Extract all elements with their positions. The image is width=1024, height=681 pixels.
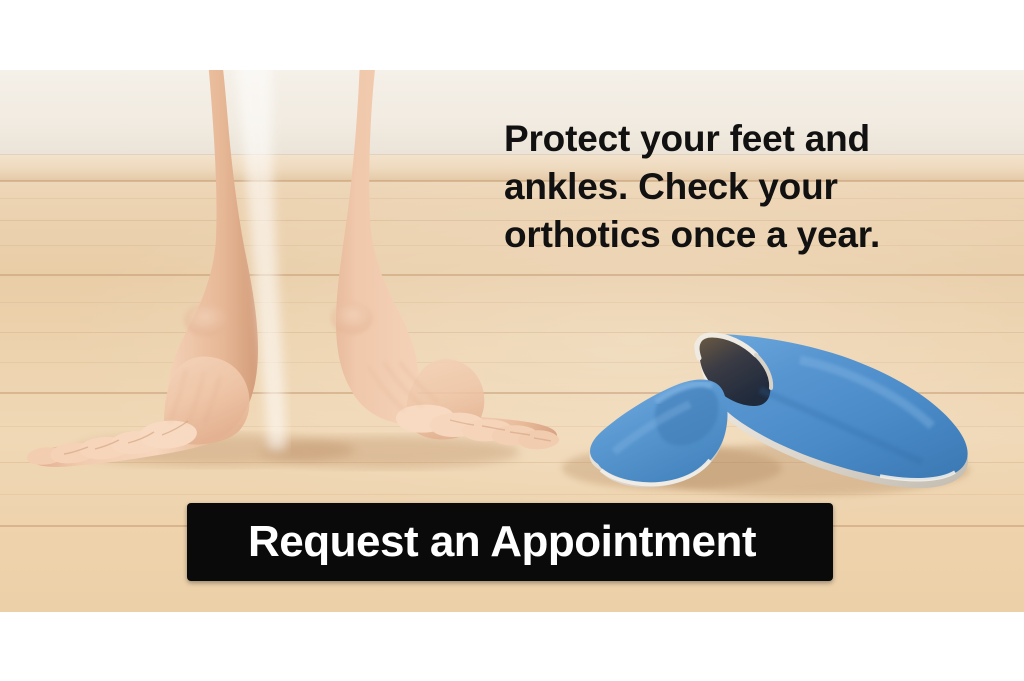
request-appointment-label: Request an Appointment	[248, 520, 756, 564]
page-headline: Protect your feet and ankles. Check your…	[504, 115, 964, 259]
request-appointment-button[interactable]: Request an Appointment	[187, 503, 833, 581]
promo-banner: Protect your feet and ankles. Check your…	[0, 0, 1024, 681]
